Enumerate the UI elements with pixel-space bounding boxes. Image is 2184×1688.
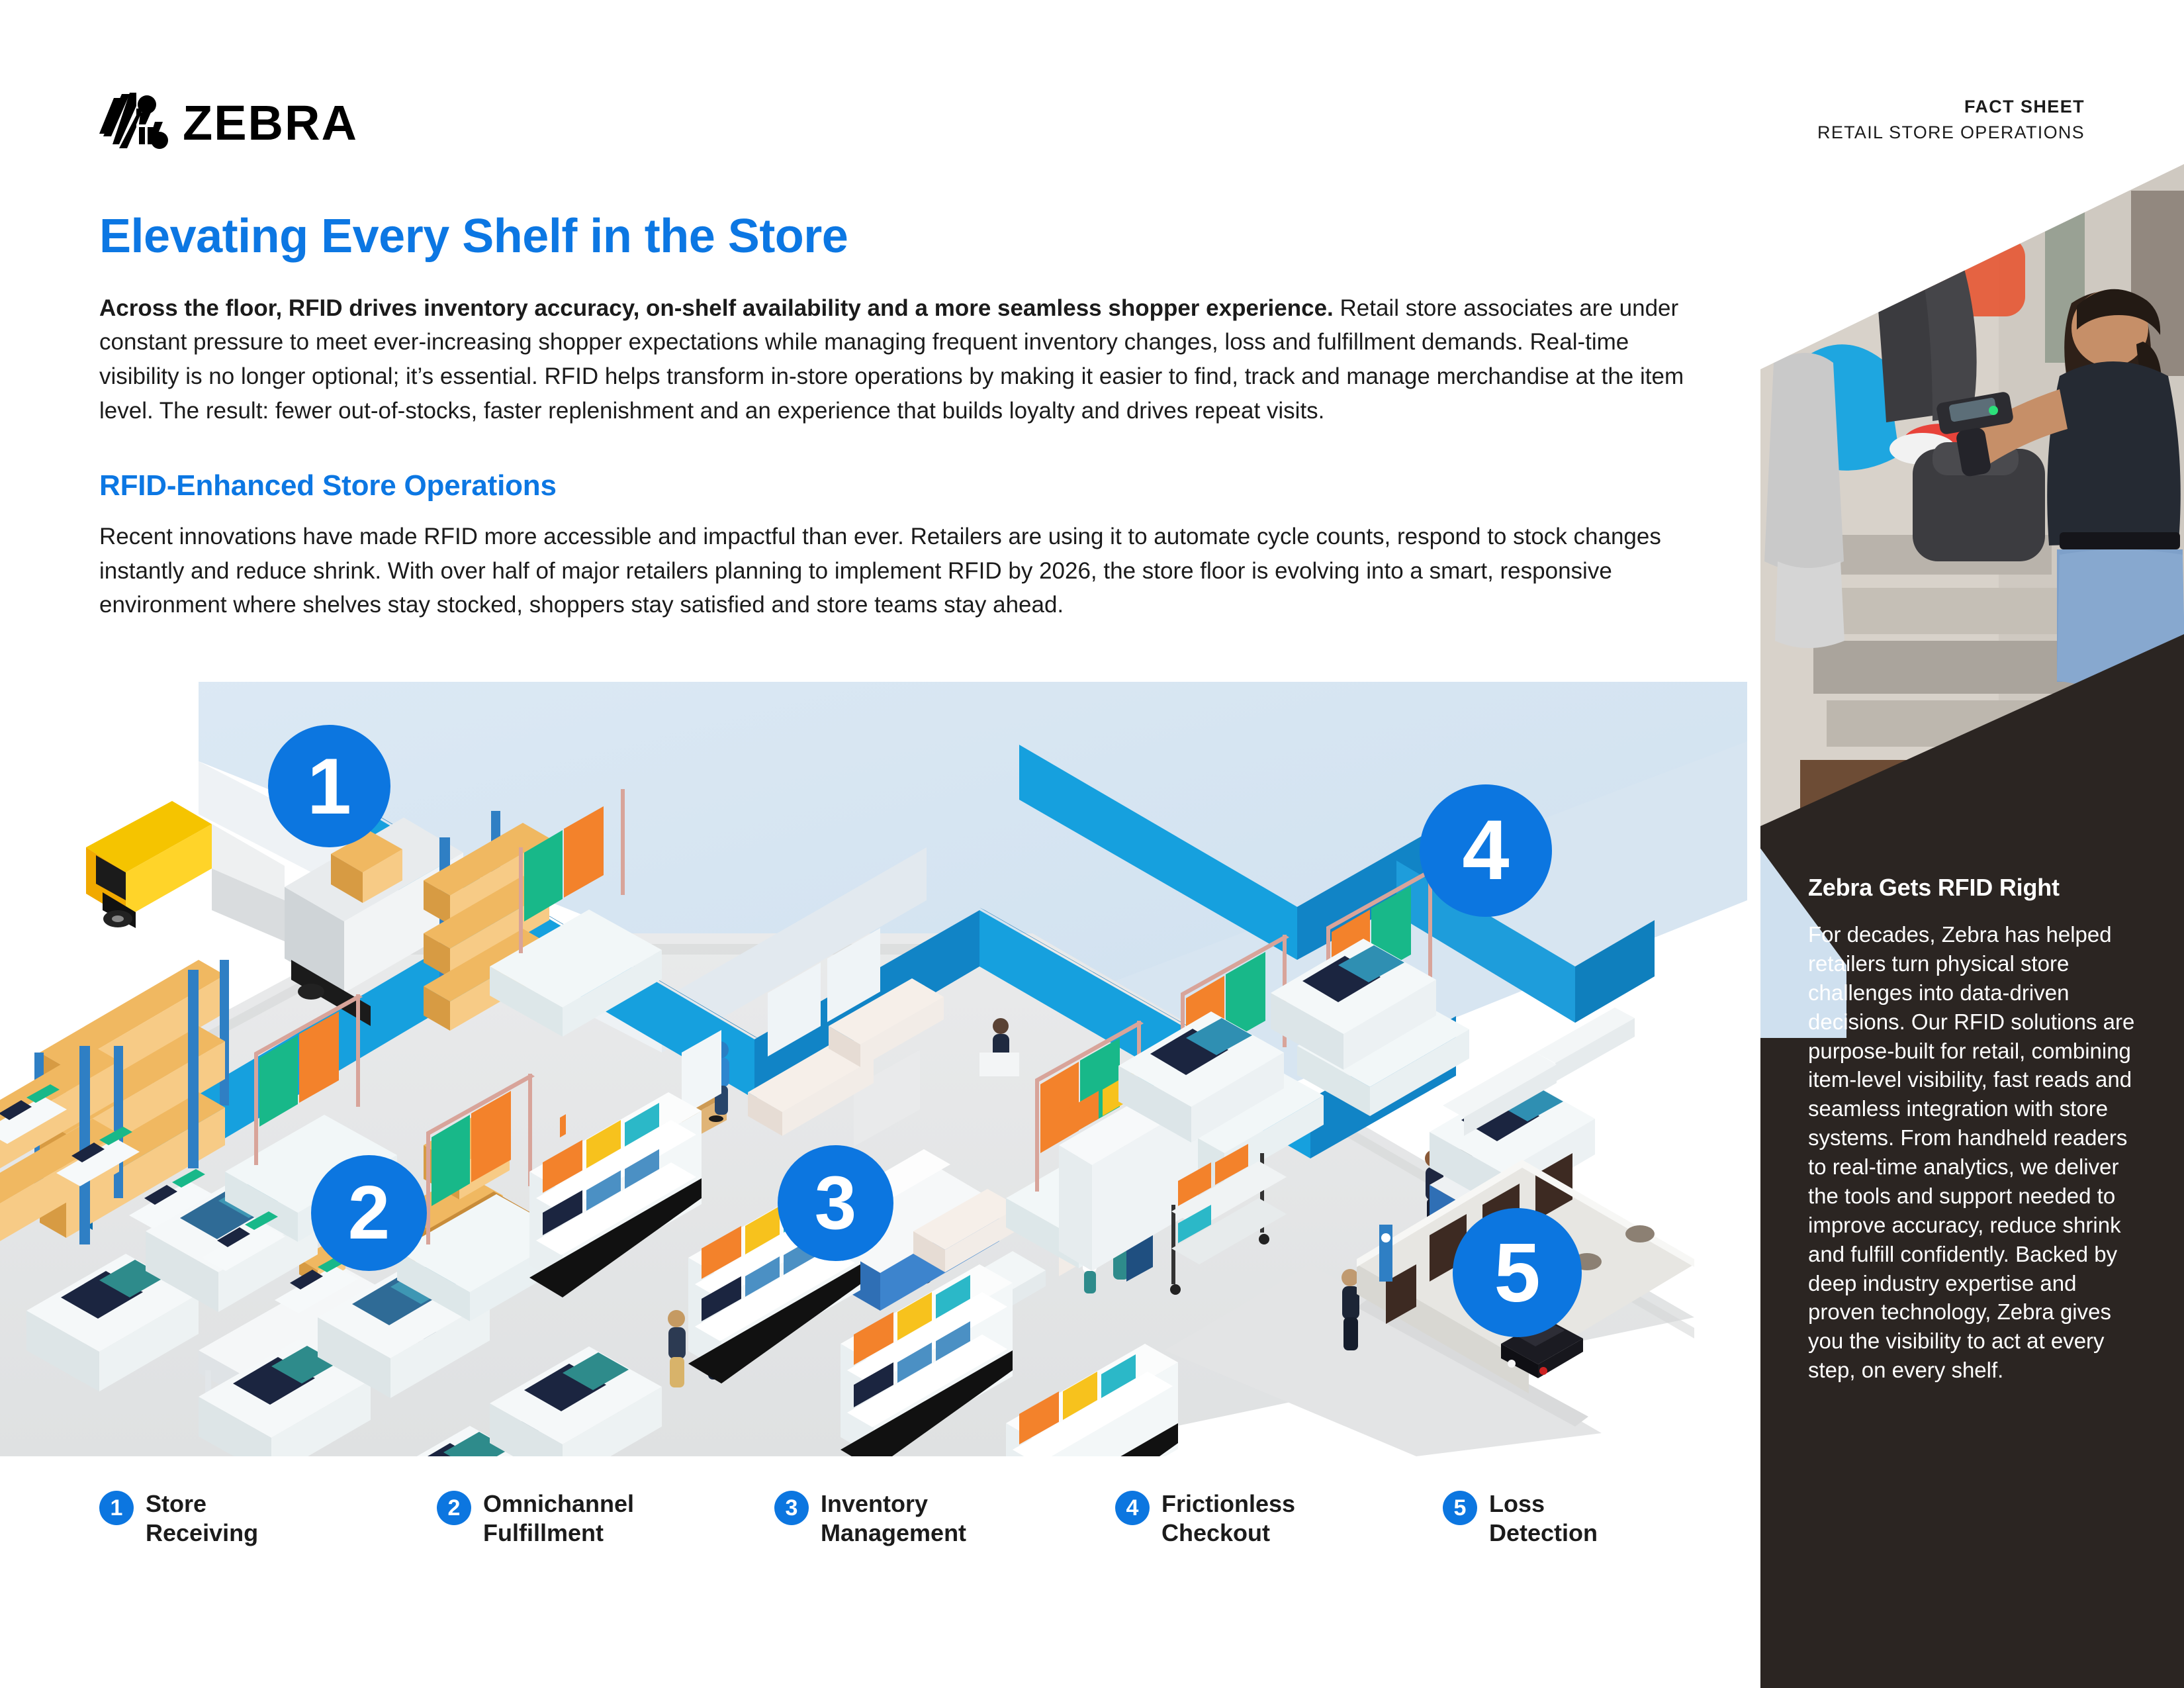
section-heading: RFID-Enhanced Store Operations (99, 469, 1701, 502)
legend-label-4: Frictionless Checkout (1161, 1489, 1295, 1548)
legend: 1 Store Receiving 2 Omnichannel Fulfillm… (99, 1489, 1701, 1548)
legend-item-1[interactable]: 1 Store Receiving (99, 1489, 437, 1548)
legend-badge-2: 2 (437, 1491, 471, 1525)
kicker-fact-sheet: FACT SHEET (1817, 94, 2085, 120)
legend-item-4[interactable]: 4 Frictionless Checkout (1115, 1489, 1443, 1548)
right-rail: Zebra Gets RFID Right For decades, Zebra… (1760, 164, 2184, 1688)
document-kicker: FACT SHEET RETAIL STORE OPERATIONS (1817, 94, 2085, 146)
store-illustration: 1 2 3 4 5 (0, 682, 1747, 1456)
legend-item-5[interactable]: 5 Loss Detection (1443, 1489, 1701, 1548)
map-marker-4[interactable]: 4 (1420, 784, 1552, 917)
legend-label-2: Omnichannel Fulfillment (483, 1489, 634, 1548)
rail-heading: Zebra Gets RFID Right (1808, 874, 2135, 902)
main-content: Elevating Every Shelf in the Store Acros… (99, 212, 1701, 622)
rail-body: For decades, Zebra has helped retailers … (1808, 920, 2135, 1385)
zebra-head-icon (99, 93, 171, 154)
map-marker-2[interactable]: 2 (311, 1155, 427, 1271)
legend-badge-5: 5 (1443, 1491, 1477, 1525)
kicker-subtitle: RETAIL STORE OPERATIONS (1817, 120, 2085, 146)
legend-item-3[interactable]: 3 Inventory Management (774, 1489, 1115, 1548)
map-marker-5[interactable]: 5 (1453, 1208, 1582, 1337)
page-title: Elevating Every Shelf in the Store (99, 212, 1701, 262)
map-marker-1[interactable]: 1 (268, 725, 390, 847)
legend-badge-1: 1 (99, 1491, 134, 1525)
map-marker-3[interactable]: 3 (778, 1145, 893, 1261)
intro-paragraph: Across the floor, RFID drives inventory … (99, 291, 1701, 428)
legend-label-3: Inventory Management (821, 1489, 966, 1548)
legend-label-5: Loss Detection (1489, 1489, 1598, 1548)
intro-lead: Across the floor, RFID drives inventory … (99, 295, 1334, 321)
legend-badge-4: 4 (1115, 1491, 1150, 1525)
legend-item-2[interactable]: 2 Omnichannel Fulfillment (437, 1489, 774, 1548)
legend-label-1: Store Receiving (146, 1489, 258, 1548)
section-paragraph: Recent innovations have made RFID more a… (99, 520, 1701, 622)
legend-badge-3: 3 (774, 1491, 809, 1525)
zebra-logo: ZEBRA (99, 93, 358, 154)
zebra-wordmark: ZEBRA (183, 99, 358, 148)
rail-text-block: Zebra Gets RFID Right For decades, Zebra… (1808, 874, 2135, 1385)
